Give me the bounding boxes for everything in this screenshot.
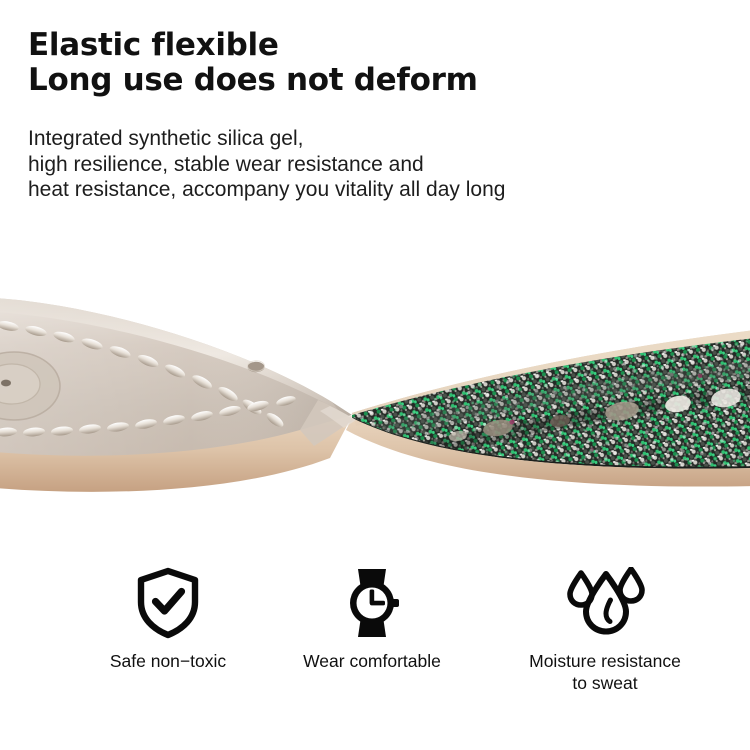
product-photo <box>0 280 750 520</box>
subcopy-block: Integrated synthetic silica gel, high re… <box>28 126 688 203</box>
wristwatch-icon <box>262 565 482 641</box>
feature-caption-moisture-line2: to sweat <box>495 672 715 694</box>
water-droplets-icon <box>495 565 715 641</box>
subcopy-line-1: Integrated synthetic silica gel, <box>28 126 688 152</box>
subcopy-line-3: heat resistance, accompany you vitality … <box>28 177 688 203</box>
headline-line-1: Elastic flexible <box>28 28 668 63</box>
band-vent-hole <box>248 362 265 372</box>
feature-safe-non-toxic: Safe non−toxic <box>58 565 278 672</box>
feature-wear-comfortable: Wear comfortable <box>262 565 482 672</box>
feature-caption-moisture: Moisture resistance to sweat <box>495 650 715 694</box>
feature-caption-safe: Safe non−toxic <box>58 650 278 672</box>
feature-caption-wear: Wear comfortable <box>262 650 482 672</box>
subcopy-line-2: high resilience, stable wear resistance … <box>28 152 688 178</box>
shield-check-icon <box>58 565 278 641</box>
feature-moisture-resistance: Moisture resistance to sweat <box>495 565 715 694</box>
band-right-half <box>340 320 750 490</box>
headline-line-2: Long use does not deform <box>28 63 668 98</box>
band-left-half <box>0 298 352 492</box>
feature-row: Safe non−toxic Wear comfortable <box>0 565 750 695</box>
headline-block: Elastic flexible Long use does not defor… <box>28 28 668 98</box>
feature-caption-moisture-line1: Moisture resistance <box>495 650 715 672</box>
